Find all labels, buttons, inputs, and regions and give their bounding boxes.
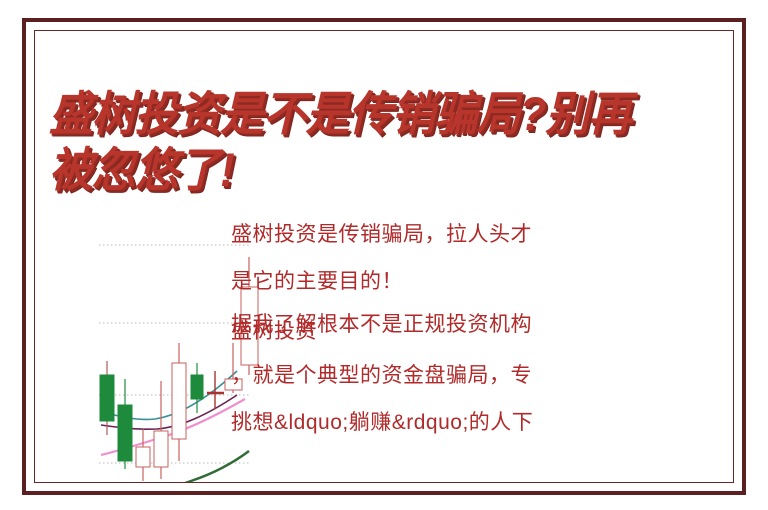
candle-doji [207, 371, 224, 409]
candle-down [118, 379, 132, 469]
page-title: 盛树投资是不是传销骗局?别再 被忽悠了! [49, 86, 700, 198]
article-body-line-4: ，就是个典型的资金盘骗局，专 [231, 352, 701, 399]
article-body-line-2: 是它的主要目的！ [231, 258, 701, 305]
page-title-line-1: 盛树投资是不是传销骗局?别再 [49, 86, 700, 142]
article-frame-inner: 盛树投资是不是传销骗局?别再 被忽悠了! [34, 30, 734, 483]
candle-up [154, 381, 168, 479]
article-body: 盛树投资是传销骗局，拉人头才 是它的主要目的！ 据我了解根本不是正规投资机构 盛… [231, 211, 701, 446]
candle-up [172, 343, 186, 461]
article-body-line-3-overlap-bottom: 盛树投资 [231, 308, 701, 355]
article-body-line-3: 据我了解根本不是正规投资机构 盛树投资 [231, 305, 701, 352]
candle-down [100, 361, 114, 435]
article-body-line-5: 挑想&ldquo;躺赚&rdquo;的人下 [231, 399, 701, 446]
page-title-line-2: 被忽悠了! [49, 142, 700, 198]
article-frame: 盛树投资是不是传销骗局?别再 被忽悠了! [22, 18, 746, 495]
candle-up [136, 429, 150, 481]
article-body-line-1: 盛树投资是传销骗局，拉人头才 [231, 211, 701, 258]
